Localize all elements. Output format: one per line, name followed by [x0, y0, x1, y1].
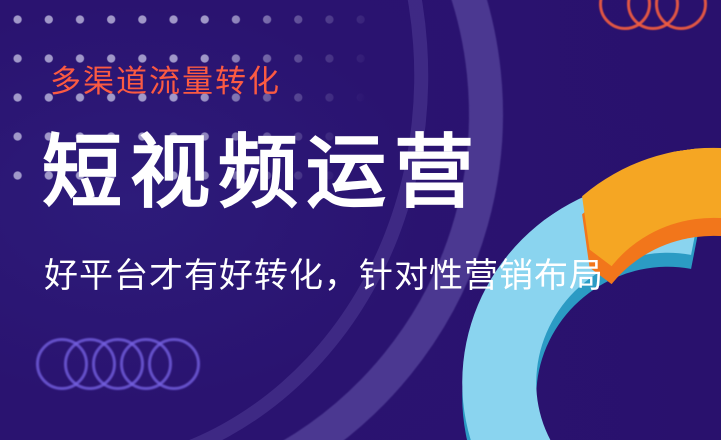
banner-headline: 短视频运营	[42, 133, 482, 213]
ring-cluster-bottom-left	[36, 338, 226, 394]
ring-icon	[148, 338, 200, 390]
isometric-donut-chart-graphic	[461, 172, 721, 440]
promo-banner: 多渠道流量转化 短视频运营 好平台才有好转化，针对性营销布局	[0, 0, 721, 440]
banner-subline: 好平台才有好转化，针对性营销布局	[44, 258, 604, 295]
banner-kicker: 多渠道流量转化	[50, 66, 281, 97]
ring-cluster-top-right	[599, 0, 721, 30]
